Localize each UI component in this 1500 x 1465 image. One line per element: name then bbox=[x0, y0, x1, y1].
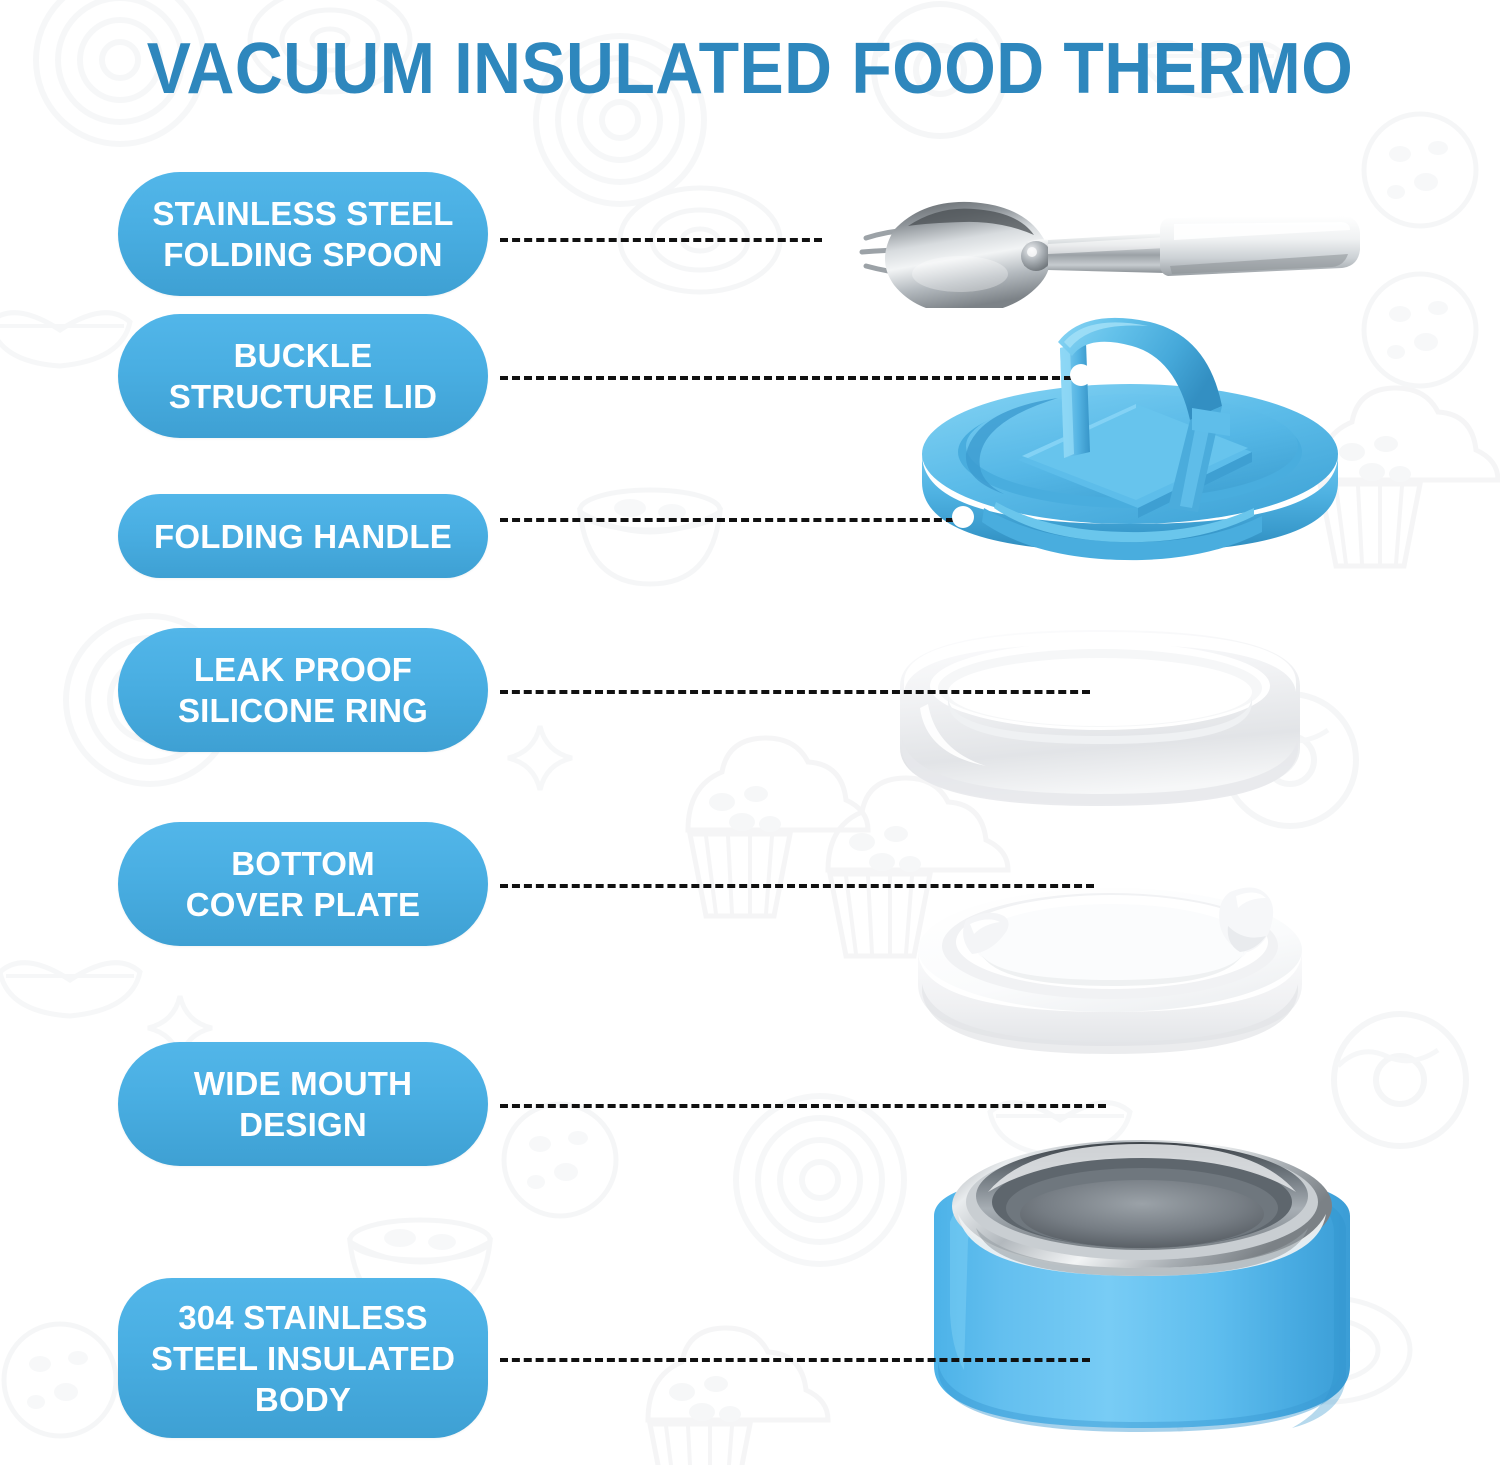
leader-line-insulated-body bbox=[500, 1358, 1090, 1362]
callout-folding-handle[interactable]: FOLDING HANDLE bbox=[118, 494, 488, 578]
callout-label: WIDE MOUTH DESIGN bbox=[194, 1063, 412, 1145]
leader-dot-buckle-lid bbox=[1070, 364, 1092, 386]
callout-304-stainless-steel-insulated-body[interactable]: 304 STAINLESS STEEL INSULATED BODY bbox=[118, 1278, 488, 1438]
silicone-ring-art bbox=[892, 624, 1308, 840]
callout-label: STAINLESS STEEL FOLDING SPOON bbox=[152, 193, 453, 275]
bottom-cover-plate-art bbox=[900, 834, 1320, 1058]
callout-bottom-cover-plate[interactable]: BOTTOM COVER PLATE bbox=[118, 822, 488, 946]
leader-line-cover-plate bbox=[500, 884, 1094, 888]
callout-stainless-steel-folding-spoon[interactable]: STAINLESS STEEL FOLDING SPOON bbox=[118, 172, 488, 296]
callout-label: BUCKLE STRUCTURE LID bbox=[169, 335, 437, 417]
infographic-page: VACUUM INSULATED FOOD THERMO bbox=[0, 0, 1500, 1465]
buckle-structure-lid-art bbox=[900, 312, 1360, 618]
insulated-jar-body-art bbox=[924, 1096, 1364, 1458]
page-title: VACUUM INSULATED FOOD THERMO bbox=[60, 28, 1440, 110]
callout-leak-proof-silicone-ring[interactable]: LEAK PROOF SILICONE RING bbox=[118, 628, 488, 752]
leader-line-folding-handle bbox=[500, 518, 966, 522]
leader-line-buckle-lid bbox=[500, 376, 1084, 380]
leader-line-silicone-ring bbox=[500, 690, 1090, 694]
folding-spork-art bbox=[836, 178, 1376, 308]
callout-wide-mouth-design[interactable]: WIDE MOUTH DESIGN bbox=[118, 1042, 488, 1166]
leader-dot-folding-handle bbox=[952, 506, 974, 528]
leader-line-spoon bbox=[500, 238, 822, 242]
callout-label: 304 STAINLESS STEEL INSULATED BODY bbox=[151, 1297, 455, 1420]
leader-line-wide-mouth bbox=[500, 1104, 1106, 1108]
callout-label: FOLDING HANDLE bbox=[154, 516, 452, 557]
callout-label: BOTTOM COVER PLATE bbox=[186, 843, 420, 925]
callout-buckle-structure-lid[interactable]: BUCKLE STRUCTURE LID bbox=[118, 314, 488, 438]
callout-label: LEAK PROOF SILICONE RING bbox=[178, 649, 428, 731]
